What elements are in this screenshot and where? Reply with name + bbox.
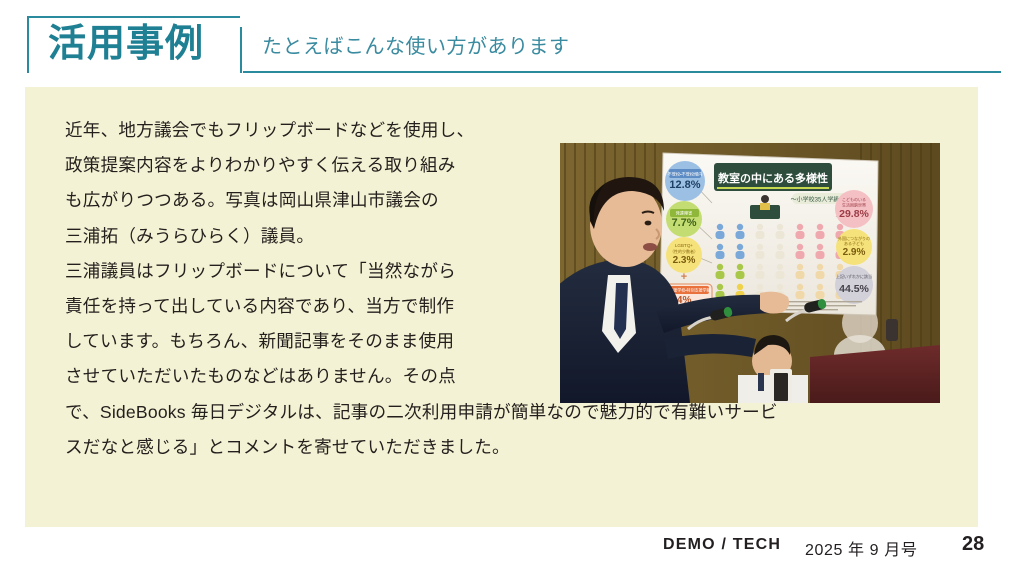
stat-bubble-23: LGBTQ+ （性的少数者） 2.3% bbox=[666, 237, 702, 273]
svg-text:生活困窮世帯: 生活困窮世帯 bbox=[842, 202, 866, 208]
footer-page-number: 28 bbox=[962, 533, 984, 556]
svg-text:ある子ども: ある子ども bbox=[844, 240, 864, 246]
footer-issue-date: 2025 年 9 月号 bbox=[805, 536, 917, 560]
svg-text:発達障害: 発達障害 bbox=[676, 210, 693, 217]
svg-text:2.9%: 2.9% bbox=[843, 247, 866, 258]
svg-text:不登校・不登校傾向: 不登校・不登校傾向 bbox=[668, 171, 703, 178]
stat-bubble-77: 発達障害 7.7% bbox=[666, 201, 702, 237]
stat-bubble-128: 不登校・不登校傾向 12.8% bbox=[665, 161, 705, 201]
stat-bubble-298: こどものいる 生活困窮世帯 29.8% bbox=[835, 190, 873, 228]
svg-text:7.7%: 7.7% bbox=[671, 217, 696, 229]
stat-bubble-445: 上記いずれかに該当 44.5% bbox=[835, 266, 873, 304]
flipboard-graphic: 教室の中にある多様性 ～小学校35人学級の場合～ bbox=[660, 153, 878, 315]
content-panel: 近年、地方議会でもフリップボードなどを使用し、 政策提案内容をよりわかりやすく伝… bbox=[25, 87, 978, 527]
svg-text:（性的少数者）: （性的少数者） bbox=[670, 248, 698, 254]
council-photo: 教室の中にある多様性 ～小学校35人学級の場合～ bbox=[560, 143, 940, 403]
svg-text:LGBTQ+: LGBTQ+ bbox=[675, 243, 694, 248]
svg-text:+: + bbox=[681, 271, 687, 283]
title-bracket-right-bar bbox=[240, 27, 242, 73]
svg-text:上記いずれかに該当: 上記いずれかに該当 bbox=[836, 273, 872, 279]
page-title: 活用事例 bbox=[48, 18, 238, 70]
stat-bubble-29: 外国につながりの ある子ども 2.9% bbox=[836, 229, 872, 265]
slide-footer: DEMO / TECH 2025 年 9 月号 28 bbox=[0, 528, 1024, 568]
slide-root: 活用事例 たとえばこんな使い方があります 近年、地方議会でもフリップボードなどを… bbox=[0, 0, 1024, 568]
svg-text:教室の中にある多様性: 教室の中にある多様性 bbox=[717, 171, 828, 185]
footer-brand: DEMO / TECH bbox=[663, 536, 781, 554]
page-subtitle: たとえばこんな使い方があります bbox=[262, 30, 570, 59]
svg-text:12.8%: 12.8% bbox=[669, 179, 700, 191]
header-divider-rule bbox=[243, 71, 1001, 73]
svg-text:29.8%: 29.8% bbox=[839, 208, 869, 220]
svg-text:2.3%: 2.3% bbox=[673, 255, 696, 266]
svg-text:こどものいる: こどものいる bbox=[842, 196, 866, 202]
council-photo-image: 教室の中にある多様性 ～小学校35人学級の場合～ bbox=[560, 143, 940, 403]
svg-text:44.5%: 44.5% bbox=[839, 283, 869, 295]
slide-header: 活用事例 たとえばこんな使い方があります bbox=[0, 0, 1024, 88]
body-line: スだなと感じる」とコメントを寄せていただきました。 bbox=[65, 430, 945, 465]
